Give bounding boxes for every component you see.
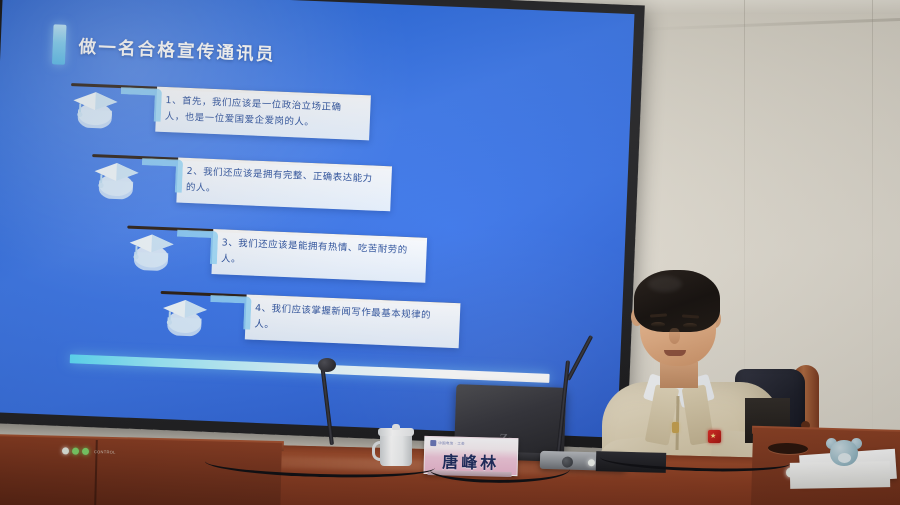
eye-left xyxy=(651,322,665,327)
indicator-led-green xyxy=(82,448,89,455)
hair-highlight xyxy=(648,276,682,292)
org-logo-icon xyxy=(430,440,436,446)
jacket-zipper-pull xyxy=(672,422,679,433)
arrow-decoration xyxy=(120,87,162,122)
list-item-text: 1、首先，我们应该是一位政治立场正确人，也是一位爱国爱企爱岗的人。 xyxy=(155,87,371,141)
eye-right xyxy=(683,323,697,328)
list-item: 3、我们还应该是能拥有热情、吃苦耐劳的人。 xyxy=(127,226,427,241)
plush-snout xyxy=(838,453,851,463)
slide-surface[interactable]: 做一名合格宣传通讯员 xyxy=(0,0,634,438)
nameplate-logo: 中国电信 · 工会 xyxy=(430,440,465,447)
cup-knob xyxy=(392,424,400,430)
list-item-text: 4、我们应该掌握新闻写作最基本规律的人。 xyxy=(245,294,461,348)
list-item: 1、首先，我们应该是一位政治立场正确人，也是一位爱国爱企爱岗的人。 xyxy=(71,83,371,98)
arrow-decoration xyxy=(209,295,251,330)
microphone-head-left xyxy=(318,358,336,372)
list-item-text: 2、我们还应该是拥有完整、正确表达能力的人。 xyxy=(176,158,392,212)
graduation-cap-icon xyxy=(69,83,123,129)
arrow-decoration xyxy=(176,230,218,265)
list-item: 2、我们还应该是拥有完整、正确表达能力的人。 xyxy=(92,154,392,169)
graduation-cap-icon xyxy=(159,291,213,337)
control-label: CONTROL xyxy=(94,449,116,455)
list-item: 4、我们应该掌握新闻写作最基本规律的人。 xyxy=(161,291,461,306)
arrow-decoration xyxy=(141,158,183,193)
indicator-led-white xyxy=(62,447,69,454)
graduation-cap-icon xyxy=(126,226,180,272)
indicator-led-green xyxy=(72,448,79,455)
control-indicator-lights[interactable]: CONTROL xyxy=(62,447,116,455)
badge-star-icon: ★ xyxy=(710,432,716,441)
plush-toy xyxy=(824,438,864,472)
mouth xyxy=(664,350,686,356)
list-item-text: 3、我们还应该是能拥有热情、吃苦耐劳的人。 xyxy=(211,229,427,283)
graduation-cap-icon xyxy=(90,154,144,200)
nameplate-org-text: 中国电信 · 工会 xyxy=(438,441,465,447)
nose xyxy=(669,328,680,344)
screenshot-scene: 做一名合格宣传通讯员 xyxy=(0,0,900,505)
